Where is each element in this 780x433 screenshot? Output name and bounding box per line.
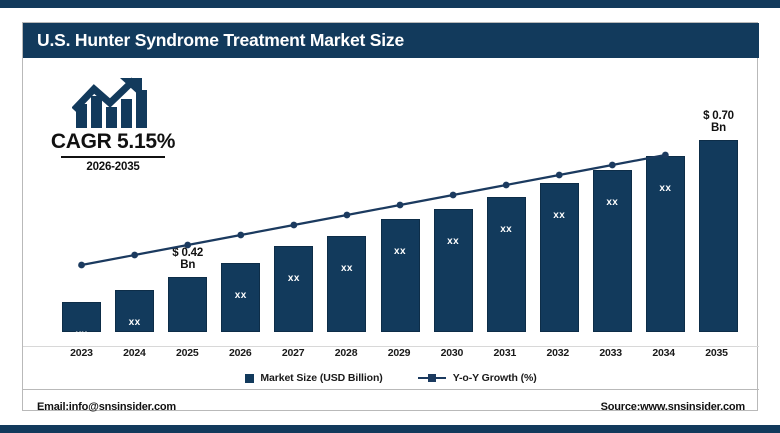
legend-label: Y-o-Y Growth (%) (453, 372, 537, 384)
bar-slot: xx (586, 58, 639, 332)
legend-item[interactable]: Market Size (USD Billion) (245, 372, 382, 384)
bar-masked-label: xx (447, 236, 459, 247)
x-axis-tick-label: 2032 (531, 347, 584, 367)
contact-email: Email:info@snsinsider.com (37, 401, 176, 413)
bar-slot: xx (267, 58, 320, 332)
legend-square-swatch-icon (245, 374, 254, 383)
market-size-bar[interactable] (168, 277, 207, 332)
market-size-bar[interactable]: xx (62, 302, 101, 332)
chart-surface: CAGR 5.15% 2026-2035 xxxx$ 0.42Bnxxxxxxx… (23, 58, 759, 347)
x-axis-tick-label: 2027 (267, 347, 320, 367)
x-axis-tick-label: 2029 (373, 347, 426, 367)
market-size-bar[interactable]: xx (487, 197, 526, 332)
bar-value-label-line2: Bn (681, 122, 755, 134)
bar-slot: xx (55, 58, 108, 332)
source-attribution: Source:www.snsinsider.com (601, 401, 745, 413)
market-size-bar[interactable]: xx (274, 246, 313, 332)
footer-row: Email:info@snsinsider.com Source:www.sns… (23, 390, 759, 423)
market-size-bar[interactable]: xx (434, 209, 473, 332)
bar-masked-label: xx (288, 273, 300, 284)
bar-masked-label: xx (606, 197, 618, 208)
bar-masked-label: xx (76, 329, 88, 340)
bar-slot: xx (427, 58, 480, 332)
bar-slot: xx (320, 58, 373, 332)
legend-item[interactable]: Y-o-Y Growth (%) (417, 372, 537, 384)
bar-value-label: $ 0.70Bn (681, 110, 755, 134)
x-axis-tick-label: 2035 (690, 347, 743, 367)
chart-plot-frame: CAGR 5.15% 2026-2035 xxxx$ 0.42Bnxxxxxxx… (23, 58, 759, 347)
bottom-accent-strip (0, 425, 780, 433)
bar-masked-label: xx (553, 210, 565, 221)
x-axis-tick-label: 2034 (637, 347, 690, 367)
market-size-bar[interactable]: xx (327, 236, 366, 332)
market-size-bar[interactable]: xx (540, 183, 579, 332)
market-size-bar[interactable]: xx (221, 263, 260, 332)
infographic-root: U.S. Hunter Syndrome Treatment Market Si… (0, 0, 780, 433)
market-size-bar[interactable]: xx (115, 290, 154, 332)
bar-masked-label: xx (341, 263, 353, 274)
x-axis-tick-label: 2028 (320, 347, 373, 367)
bar-masked-label: xx (129, 317, 141, 328)
bar-slot: $ 0.70Bn (692, 58, 745, 332)
bar-masked-label: xx (235, 290, 247, 301)
bar-slot: xx (108, 58, 161, 332)
x-axis-tick-label: 2026 (214, 347, 267, 367)
x-axis-tick-label: 2033 (584, 347, 637, 367)
x-axis-tick-label: 2025 (161, 347, 214, 367)
market-size-bar[interactable]: xx (646, 156, 685, 332)
bar-masked-label: xx (500, 224, 512, 235)
bar-slot: xx (639, 58, 692, 332)
x-axis-tick-label: 2024 (108, 347, 161, 367)
x-axis-tick-label: 2031 (478, 347, 531, 367)
top-accent-strip (0, 0, 780, 8)
x-axis-tick-label: 2030 (425, 347, 478, 367)
legend-label: Market Size (USD Billion) (260, 372, 382, 384)
legend-line-point-icon (417, 373, 447, 383)
bar-slot: xx (480, 58, 533, 332)
bar-masked-label: xx (394, 246, 406, 257)
bar-slot: xx (214, 58, 267, 332)
chart-legend: Market Size (USD Billion)Y-o-Y Growth (%… (23, 367, 759, 389)
bars-layer: xxxx$ 0.42Bnxxxxxxxxxxxxxxxxxx$ 0.70Bn (55, 58, 745, 332)
bar-slot: xx (373, 58, 426, 332)
bar-masked-label: xx (659, 183, 671, 194)
x-axis-tick-label: 2023 (55, 347, 108, 367)
header-band: U.S. Hunter Syndrome Treatment Market Si… (23, 23, 759, 58)
x-axis-labels: 2023202420252026202720282029203020312032… (55, 347, 743, 367)
page-title: U.S. Hunter Syndrome Treatment Market Si… (23, 30, 404, 51)
bar-slot: $ 0.42Bn (161, 58, 214, 332)
bar-slot: xx (533, 58, 586, 332)
market-size-bar[interactable]: xx (381, 219, 420, 332)
bar-value-label-line1: $ 0.70 (681, 110, 755, 122)
market-size-bar[interactable]: xx (593, 170, 632, 332)
market-size-bar[interactable] (699, 140, 738, 332)
infographic-card: U.S. Hunter Syndrome Treatment Market Si… (22, 22, 758, 411)
